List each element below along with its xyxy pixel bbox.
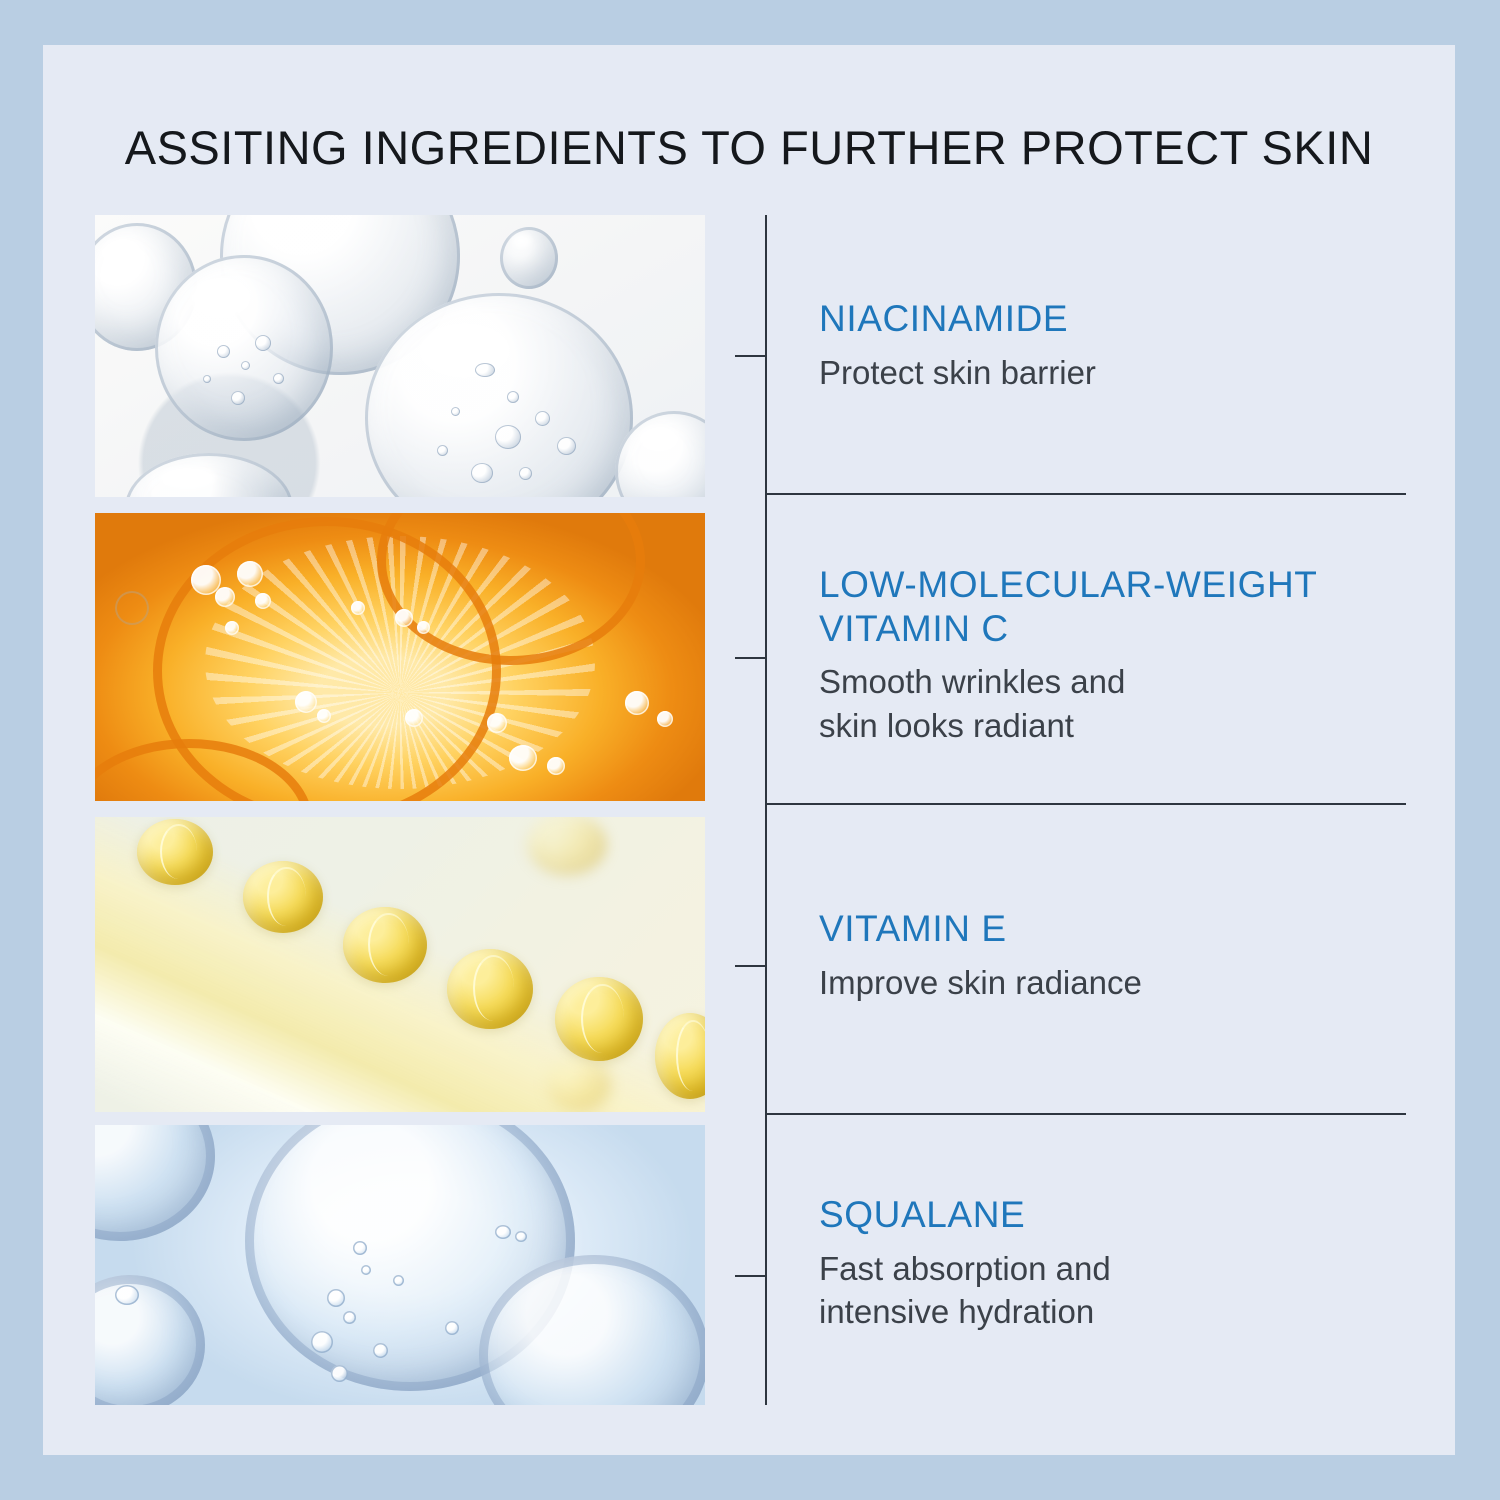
connector-tick-4 (735, 1275, 766, 1277)
section-divider-2 (765, 803, 1406, 805)
blue-gel-serum-image (95, 1125, 705, 1405)
outer-frame: ASSITING INGREDIENTS TO FURTHER PROTECT … (0, 0, 1500, 1500)
ingredient-entry-squalane: SQUALANE Fast absorption and intensive h… (819, 1193, 1419, 1334)
ingredient-entry-vitamin-e: VITAMIN E Improve skin radiance (819, 907, 1419, 1004)
ingredient-description: Smooth wrinkles and skin looks radiant (819, 660, 1419, 747)
ingredient-image-squalane (95, 1125, 705, 1405)
ingredient-description: Fast absorption and intensive hydration (819, 1247, 1419, 1334)
connector-tick-2 (735, 657, 766, 659)
ingredient-description: Improve skin radiance (819, 961, 1419, 1005)
ingredient-image-vitamin-c (95, 513, 705, 801)
orange-citrus-slices-image (95, 513, 705, 801)
ingredient-name: NIACINAMIDE (819, 297, 1419, 341)
connector-rail (765, 215, 767, 1405)
ingredient-entry-niacinamide: NIACINAMIDE Protect skin barrier (819, 297, 1419, 394)
content-panel: ASSITING INGREDIENTS TO FURTHER PROTECT … (43, 45, 1455, 1455)
ingredient-description: Protect skin barrier (819, 351, 1419, 395)
transparent-bubbles-image (95, 215, 705, 497)
ingredient-name: VITAMIN E (819, 907, 1419, 951)
ingredient-list: NIACINAMIDE Protect skin barrier LOW-MOL… (43, 45, 1455, 1455)
ingredient-image-vitamin-e (95, 817, 705, 1112)
section-divider-3 (765, 1113, 1406, 1115)
yellow-vitamin-e-capsules-image (95, 817, 705, 1112)
ingredient-name: LOW-MOLECULAR-WEIGHT VITAMIN C (819, 563, 1419, 650)
ingredient-name: SQUALANE (819, 1193, 1419, 1237)
connector-tick-3 (735, 965, 766, 967)
connector-tick-1 (735, 355, 766, 357)
ingredient-entry-vitamin-c: LOW-MOLECULAR-WEIGHT VITAMIN C Smooth wr… (819, 563, 1419, 747)
section-divider-1 (765, 493, 1406, 495)
ingredient-image-niacinamide (95, 215, 705, 497)
